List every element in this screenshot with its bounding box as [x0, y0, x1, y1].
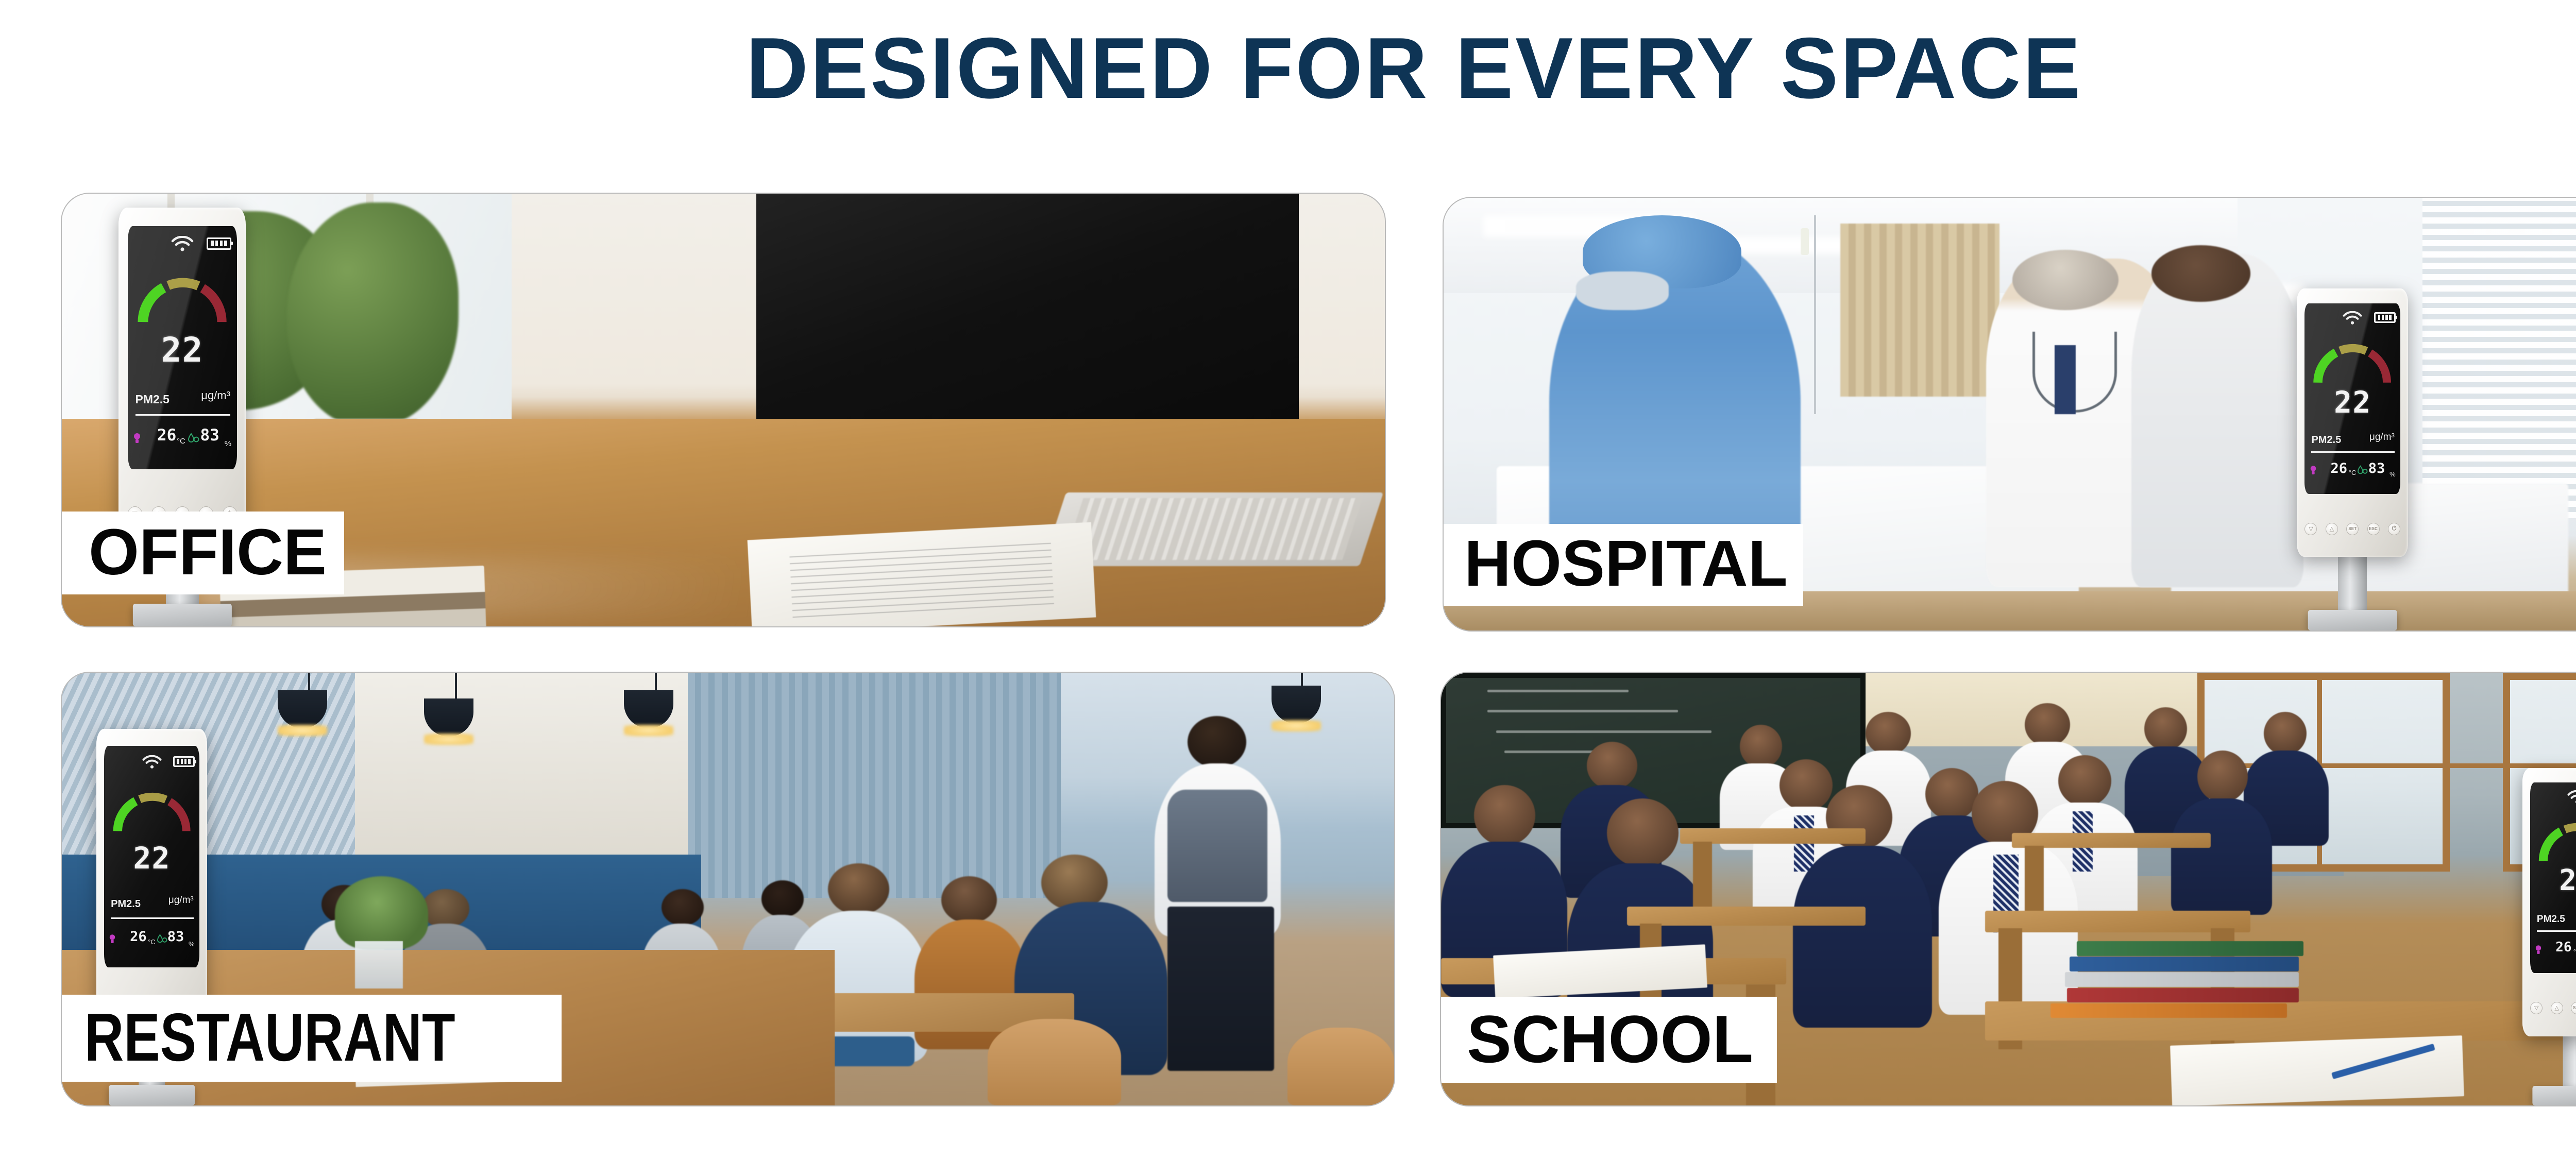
stand-foot [109, 1085, 195, 1105]
diner-head [761, 880, 804, 917]
student-head [1587, 742, 1637, 789]
desk-leg [1693, 842, 1711, 911]
temperature-unit: °C [2573, 948, 2576, 955]
panel-caption-hospital: HOSPITAL [1444, 524, 1803, 606]
pm25-unit: μg/m³ [168, 895, 194, 905]
student-head [2264, 712, 2306, 755]
device-stand-school [2522, 1036, 2576, 1105]
caption-text: RESTAURANT [84, 1007, 455, 1068]
bulb-icon [109, 934, 116, 944]
humidity-value: 83 [2368, 462, 2385, 475]
wifi-icon [142, 755, 162, 770]
device-screen: 22 PM2.5 μg/m³ 26 °C 83 % [104, 746, 199, 967]
desk-leg [2025, 846, 2043, 915]
pm25-unit: μg/m³ [2369, 432, 2395, 442]
stand-neck [2563, 1036, 2576, 1086]
pm25-value: 22 [161, 333, 204, 367]
screen-divider [2537, 930, 2576, 932]
dining-chair [1287, 1028, 1394, 1105]
chalk-writing [1487, 690, 1628, 692]
wifi-icon [2567, 790, 2576, 805]
chalk-writing [1496, 730, 1711, 733]
page-title: DESIGNED FOR EVERY SPACE [0, 25, 2576, 111]
doctor-tie [2055, 345, 2076, 414]
book [2050, 1003, 2287, 1018]
battery-icon [173, 756, 195, 767]
temperature-value: 26 [130, 930, 147, 944]
air-quality-gauge [2537, 821, 2576, 862]
button-down[interactable]: ▽ [2530, 1002, 2543, 1014]
gauge-arc [135, 275, 229, 324]
diner-head-foreground [828, 863, 889, 915]
book [2065, 972, 2299, 987]
air-quality-monitor-hospital[interactable]: 22 PM2.5 μg/m³ 26 °C 83 % ▽ △ SET [2297, 288, 2408, 557]
panel-office[interactable]: 22 PM2.5 μg/m³ 26 °C 83 % ▽ △ SET [61, 193, 1386, 627]
doctor-head [2012, 250, 2118, 311]
temperature-value: 26 [2331, 462, 2348, 475]
student-head [2025, 703, 2070, 746]
air-quality-monitor-school[interactable]: 22 PM2.5 μg/m³ 26 °C 83 % ▽ △ SET [2522, 768, 2576, 1036]
paper-text-lines [790, 540, 1054, 618]
temperature-unit: °C [2349, 469, 2357, 476]
humidity-drop-icon [157, 934, 168, 944]
humidity-unit: % [225, 440, 231, 448]
air-quality-gauge [2311, 342, 2394, 384]
iv-stand [1814, 215, 1816, 414]
office-papers [748, 522, 1096, 627]
panel-caption-office: OFFICE [62, 512, 344, 594]
wifi-icon [171, 236, 194, 252]
open-notebook [2170, 1035, 2464, 1106]
waitress-vest [1167, 790, 1267, 902]
second-nurse [2131, 254, 2303, 587]
panel-school[interactable]: 22 PM2.5 μg/m³ 26 °C 83 % ▽ △ SET [1440, 672, 2576, 1106]
gauge-arc [2537, 821, 2576, 862]
plant-vase [355, 941, 403, 988]
battery-icon [207, 237, 231, 250]
wood-wall-panel [1840, 224, 1999, 397]
pm25-unit: μg/m³ [201, 390, 230, 401]
waitress-skirt [1167, 907, 1274, 1071]
student-head [1780, 759, 1833, 811]
button-set[interactable]: SET [2571, 1002, 2576, 1014]
stand-foot [133, 604, 232, 626]
book [2077, 941, 2303, 956]
student-uniform-sweater [2171, 798, 2272, 915]
humidity-value: 83 [200, 428, 219, 444]
button-set[interactable]: SET [2346, 523, 2359, 535]
bulb-icon [2310, 465, 2317, 475]
student-head [1866, 712, 1911, 755]
air-quality-monitor-office[interactable]: 22 PM2.5 μg/m³ 26 °C 83 % ▽ △ SET [118, 208, 246, 550]
panel-hospital[interactable]: 22 PM2.5 μg/m³ 26 °C 83 % ▽ △ SET [1443, 197, 2576, 632]
lamp-glow [424, 734, 473, 745]
lamp-glow [624, 725, 673, 736]
slatted-wall-right [688, 673, 1061, 898]
humidity-drop-icon [2357, 465, 2368, 475]
classroom-desk [1627, 907, 1866, 926]
poster-canvas: DESIGNED FOR EVERY SPACE [0, 0, 2576, 1159]
pm25-label: PM2.5 [135, 394, 170, 405]
screen-divider [2311, 451, 2394, 453]
lamp-cord [655, 673, 657, 690]
chalk-writing [1487, 710, 1678, 712]
lamp-glow [1272, 720, 1321, 731]
device-button-row[interactable]: ▽ △ SET ESC ⏻ [2304, 507, 2400, 550]
lamp-glow [278, 725, 327, 736]
wifi-icon [2342, 311, 2363, 326]
second-nurse-head [2151, 245, 2251, 301]
student-head [2058, 755, 2111, 807]
pm25-label: PM2.5 [2311, 435, 2341, 445]
humidity-unit: % [2389, 471, 2396, 478]
pm25-label: PM2.5 [2537, 914, 2565, 924]
student-head [1474, 785, 1535, 846]
lamp-cord [308, 673, 310, 690]
button-up[interactable]: △ [2551, 1002, 2563, 1014]
stand-foot [2308, 610, 2397, 630]
air-quality-gauge [111, 790, 193, 833]
pm25-label: PM2.5 [111, 899, 141, 909]
pm25-value: 22 [133, 843, 170, 873]
table-plant [335, 876, 428, 950]
button-esc[interactable]: ESC [2367, 523, 2380, 535]
bulb-icon [133, 433, 141, 444]
face-mask [1576, 271, 1669, 311]
dining-chair [988, 1019, 1121, 1105]
window-blinds [2422, 198, 2576, 518]
diner-head [421, 889, 469, 928]
lamp-cord [455, 673, 457, 698]
school-tie [1794, 815, 1814, 872]
button-up[interactable]: △ [2326, 523, 2338, 535]
panel-restaurant[interactable]: 22 PM2.5 μg/m³ 26 °C 83 % ▽ △ SET [61, 672, 1395, 1106]
iv-bag [1801, 228, 1809, 255]
student-head [2197, 751, 2248, 803]
pm25-value: 22 [2334, 387, 2371, 417]
gauge-arc [111, 790, 193, 833]
screen-divider [135, 414, 230, 416]
book [2070, 957, 2299, 971]
stand-neck [2338, 557, 2367, 610]
caption-text: OFFICE [89, 523, 327, 581]
device-button-row[interactable]: ▽ △ SET ESC ⏻ [2530, 986, 2576, 1029]
temperature-unit: °C [148, 939, 156, 945]
temperature-value: 26 [157, 428, 176, 444]
stand-foot [2532, 1086, 2576, 1105]
gauge-arc [2311, 342, 2394, 384]
device-stand-hospital [2297, 557, 2408, 630]
air-quality-monitor-restaurant[interactable]: 22 PM2.5 μg/m³ 26 °C 83 % ▽ △ SET [96, 729, 207, 1041]
bulb-icon [2535, 945, 2542, 955]
air-quality-gauge [135, 275, 229, 324]
battery-icon [2374, 312, 2396, 323]
humidity-drop-icon [188, 433, 200, 444]
waitress-head [1188, 716, 1246, 768]
screen-divider [111, 917, 194, 919]
temperature-value: 26 [2555, 941, 2571, 954]
keyboard-keys [1063, 498, 1362, 560]
office-monitor [756, 193, 1299, 453]
device-screen: 22 PM2.5 μg/m³ 26 °C 83 % [128, 226, 237, 469]
lamp-cord [1301, 673, 1303, 686]
humidity-value: 83 [167, 930, 184, 944]
panel-caption-school: SCHOOL [1441, 997, 1777, 1083]
button-power[interactable]: ⏻ [2388, 523, 2400, 535]
device-screen: 22 PM2.5 μg/m³ 26 °C 83 % [2304, 303, 2400, 494]
student-head [1925, 768, 1978, 820]
book [2067, 988, 2299, 1003]
humidity-unit: % [189, 941, 195, 947]
device-screen: 22 PM2.5 μg/m³ 26 °C 83 % [2530, 782, 2576, 973]
caption-text: HOSPITAL [1464, 534, 1788, 592]
temperature-unit: °C [177, 437, 185, 445]
student-head-foreground [1607, 798, 1679, 867]
caption-text: SCHOOL [1467, 1009, 1753, 1069]
stacked-books [2065, 941, 2304, 1019]
student-head [1740, 725, 1782, 768]
panel-caption-restaurant: RESTAURANT [62, 995, 562, 1082]
pm25-value: 22 [2559, 866, 2576, 895]
student-head [2144, 707, 2187, 751]
office-plant [287, 202, 459, 428]
office-keyboard [1042, 492, 1384, 566]
button-down[interactable]: ▽ [2304, 523, 2317, 535]
diner-head-foreground [941, 876, 997, 924]
student-uniform-sweater [1793, 846, 1932, 1028]
